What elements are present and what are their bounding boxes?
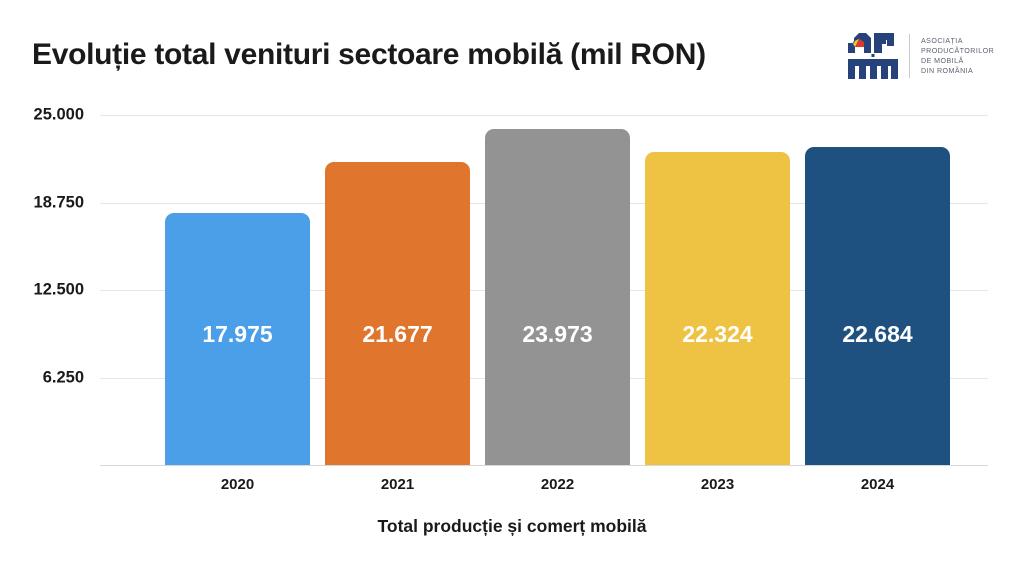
x-axis-tick-label-2023: 2023 [645, 476, 790, 493]
bar-2023[interactable]: 22.324 [645, 152, 790, 465]
bar-2021[interactable]: 21.677 [325, 162, 470, 465]
bar-value-label: 23.973 [485, 321, 630, 348]
x-axis-tick-label-2024: 2024 [805, 476, 950, 493]
bar-value-label: 17.975 [165, 321, 310, 348]
bar-2020[interactable]: 17.975 [165, 213, 310, 465]
bar-2022[interactable]: 23.973 [485, 129, 630, 465]
x-axis-tick-label-2022: 2022 [485, 476, 630, 493]
bar-value-label: 21.677 [325, 321, 470, 348]
bar-2024[interactable]: 22.684 [805, 147, 950, 465]
x-axis-tick-label-2020: 2020 [165, 476, 310, 493]
bar-value-label: 22.684 [805, 321, 950, 348]
bar-value-label: 22.324 [645, 321, 790, 348]
x-axis-title: Total producție și comerț mobilă [0, 516, 1024, 537]
x-axis-tick-label-2021: 2021 [325, 476, 470, 493]
bar-chart: 25.00018.75012.5006.250 17.97521.67723.9… [0, 0, 1024, 576]
